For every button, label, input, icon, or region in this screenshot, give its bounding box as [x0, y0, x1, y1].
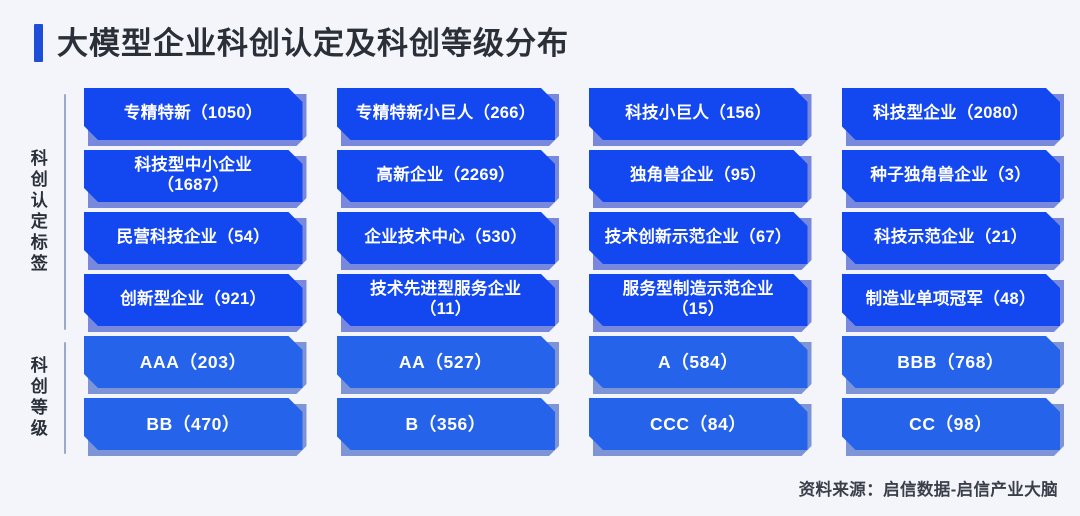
chip-BB[interactable]: BB（470） — [84, 398, 303, 450]
chip-label: 科技型企业（2080） — [873, 104, 1029, 124]
chip-label: 独角兽企业（95） — [630, 166, 767, 186]
chip-body[interactable]: 种子独角兽企业（3） — [842, 150, 1061, 202]
chip-body[interactable]: B（356） — [337, 398, 556, 450]
chip-label: BBB（768） — [897, 352, 1004, 373]
group-grade: 科创等级AAA（203）AA（527）A（584）BBB（768）BB（470）… — [20, 336, 1060, 460]
chip-body[interactable]: 独角兽企业（95） — [589, 150, 808, 202]
chip-label: 服务型制造示范企业 （15） — [623, 280, 774, 320]
chip-种子独角兽企业[interactable]: 种子独角兽企业（3） — [842, 150, 1061, 202]
chip-BBB[interactable]: BBB（768） — [842, 336, 1061, 388]
chip-独角兽企业[interactable]: 独角兽企业（95） — [589, 150, 808, 202]
title-accent-bar — [34, 24, 43, 62]
chip-label: AA（527） — [399, 352, 493, 373]
chip-body[interactable]: 制造业单项冠军（48） — [842, 274, 1061, 326]
chip-row: BB（470）B（356）CCC（84）CC（98） — [84, 398, 1060, 450]
chip-label: CCC（84） — [650, 414, 747, 435]
chip-label: A（584） — [658, 352, 738, 373]
chip-label: 科技示范企业（21） — [874, 228, 1027, 248]
chip-科技小巨人[interactable]: 科技小巨人（156） — [589, 88, 808, 140]
chip-body[interactable]: 专精特新（1050） — [84, 88, 303, 140]
group-divider — [64, 94, 66, 330]
chip-专精特新小巨人[interactable]: 专精特新小巨人（266） — [337, 88, 556, 140]
chip-制造业单项冠军[interactable]: 制造业单项冠军（48） — [842, 274, 1061, 326]
chip-body[interactable]: CCC（84） — [589, 398, 808, 450]
chip-body[interactable]: 科技型中小企业 （1687） — [84, 150, 303, 202]
chip-科技型企业[interactable]: 科技型企业（2080） — [842, 88, 1061, 140]
chip-B[interactable]: B（356） — [337, 398, 556, 450]
chip-body[interactable]: 科技小巨人（156） — [589, 88, 808, 140]
chip-body[interactable]: CC（98） — [842, 398, 1061, 450]
chip-body[interactable]: 技术创新示范企业（67） — [589, 212, 808, 264]
group-label-grade: 科创等级 — [20, 336, 54, 460]
chip-body[interactable]: AAA（203） — [84, 336, 303, 388]
chip-body[interactable]: 科技示范企业（21） — [842, 212, 1061, 264]
source-note: 资料来源：启信数据-启信产业大脑 — [799, 476, 1058, 500]
chip-label: B（356） — [406, 414, 486, 435]
chip-row: 专精特新（1050）专精特新小巨人（266）科技小巨人（156）科技型企业（20… — [84, 88, 1060, 140]
page-title-text: 大模型企业科创认定及科创等级分布 — [57, 28, 569, 59]
chip-AA[interactable]: AA（527） — [337, 336, 556, 388]
chip-label: CC（98） — [909, 414, 992, 435]
chip-body[interactable]: 高新企业（2269） — [337, 150, 556, 202]
chip-技术创新示范企业[interactable]: 技术创新示范企业（67） — [589, 212, 808, 264]
chip-row: AAA（203）AA（527）A（584）BBB（768） — [84, 336, 1060, 388]
group-label-certification: 科创认定标签 — [20, 88, 54, 336]
chip-CC[interactable]: CC（98） — [842, 398, 1061, 450]
chip-label: 科技型中小企业 （1687） — [134, 156, 252, 196]
chip-服务型制造示范企业[interactable]: 服务型制造示范企业 （15） — [589, 274, 808, 326]
chip-body[interactable]: AA（527） — [337, 336, 556, 388]
chip-body[interactable]: 企业技术中心（530） — [337, 212, 556, 264]
chip-body[interactable]: 技术先进型服务企业 （11） — [337, 274, 556, 326]
chip-label: 技术先进型服务企业 （11） — [370, 280, 521, 320]
chip-label: 制造业单项冠军（48） — [866, 290, 1036, 310]
page-title: 大模型企业科创认定及科创等级分布 — [34, 24, 569, 62]
chip-创新型企业[interactable]: 创新型企业（921） — [84, 274, 303, 326]
group-label-text: 科创等级 — [27, 356, 47, 440]
chip-A[interactable]: A（584） — [589, 336, 808, 388]
chip-row: 创新型企业（921）技术先进型服务企业 （11）服务型制造示范企业 （15）制造… — [84, 274, 1060, 326]
group-rows: AAA（203）AA（527）A（584）BBB（768）BB（470）B（35… — [84, 336, 1060, 460]
chip-label: AAA（203） — [140, 352, 247, 373]
chip-label: 专精特新小巨人（266） — [356, 104, 536, 124]
chip-label: 高新企业（2269） — [376, 166, 515, 186]
chip-label: 种子独角兽企业（3） — [870, 166, 1031, 186]
chip-label: 专精特新（1050） — [124, 104, 263, 124]
chip-科技示范企业[interactable]: 科技示范企业（21） — [842, 212, 1061, 264]
chip-高新企业[interactable]: 高新企业（2269） — [337, 150, 556, 202]
chip-科技型中小企业[interactable]: 科技型中小企业 （1687） — [84, 150, 303, 202]
chip-label: 民营科技企业（54） — [117, 228, 270, 248]
chip-body[interactable]: BB（470） — [84, 398, 303, 450]
group-certification: 科创认定标签专精特新（1050）专精特新小巨人（266）科技小巨人（156）科技… — [20, 88, 1060, 336]
chip-label: BB（470） — [146, 414, 240, 435]
chip-CCC[interactable]: CCC（84） — [589, 398, 808, 450]
chip-label: 科技小巨人（156） — [625, 104, 771, 124]
chip-body[interactable]: 服务型制造示范企业 （15） — [589, 274, 808, 326]
group-label-text: 科创认定标签 — [27, 149, 47, 275]
chip-企业技术中心[interactable]: 企业技术中心（530） — [337, 212, 556, 264]
chip-body[interactable]: 专精特新小巨人（266） — [337, 88, 556, 140]
chip-label: 企业技术中心（530） — [364, 228, 527, 248]
chip-label: 创新型企业（921） — [120, 290, 266, 310]
group-divider — [64, 342, 66, 454]
chip-民营科技企业[interactable]: 民营科技企业（54） — [84, 212, 303, 264]
chip-body[interactable]: A（584） — [589, 336, 808, 388]
chip-label: 技术创新示范企业（67） — [605, 228, 792, 248]
chip-body[interactable]: 科技型企业（2080） — [842, 88, 1061, 140]
group-rows: 专精特新（1050）专精特新小巨人（266）科技小巨人（156）科技型企业（20… — [84, 88, 1060, 336]
chip-技术先进型服务企业[interactable]: 技术先进型服务企业 （11） — [337, 274, 556, 326]
chip-body[interactable]: 民营科技企业（54） — [84, 212, 303, 264]
chip-body[interactable]: 创新型企业（921） — [84, 274, 303, 326]
chip-AAA[interactable]: AAA（203） — [84, 336, 303, 388]
chip-row: 科技型中小企业 （1687）高新企业（2269）独角兽企业（95）种子独角兽企业… — [84, 150, 1060, 202]
chip-body[interactable]: BBB（768） — [842, 336, 1061, 388]
chip-专精特新[interactable]: 专精特新（1050） — [84, 88, 303, 140]
chip-board: 科创认定标签专精特新（1050）专精特新小巨人（266）科技小巨人（156）科技… — [20, 88, 1060, 460]
chip-row: 民营科技企业（54）企业技术中心（530）技术创新示范企业（67）科技示范企业（… — [84, 212, 1060, 264]
